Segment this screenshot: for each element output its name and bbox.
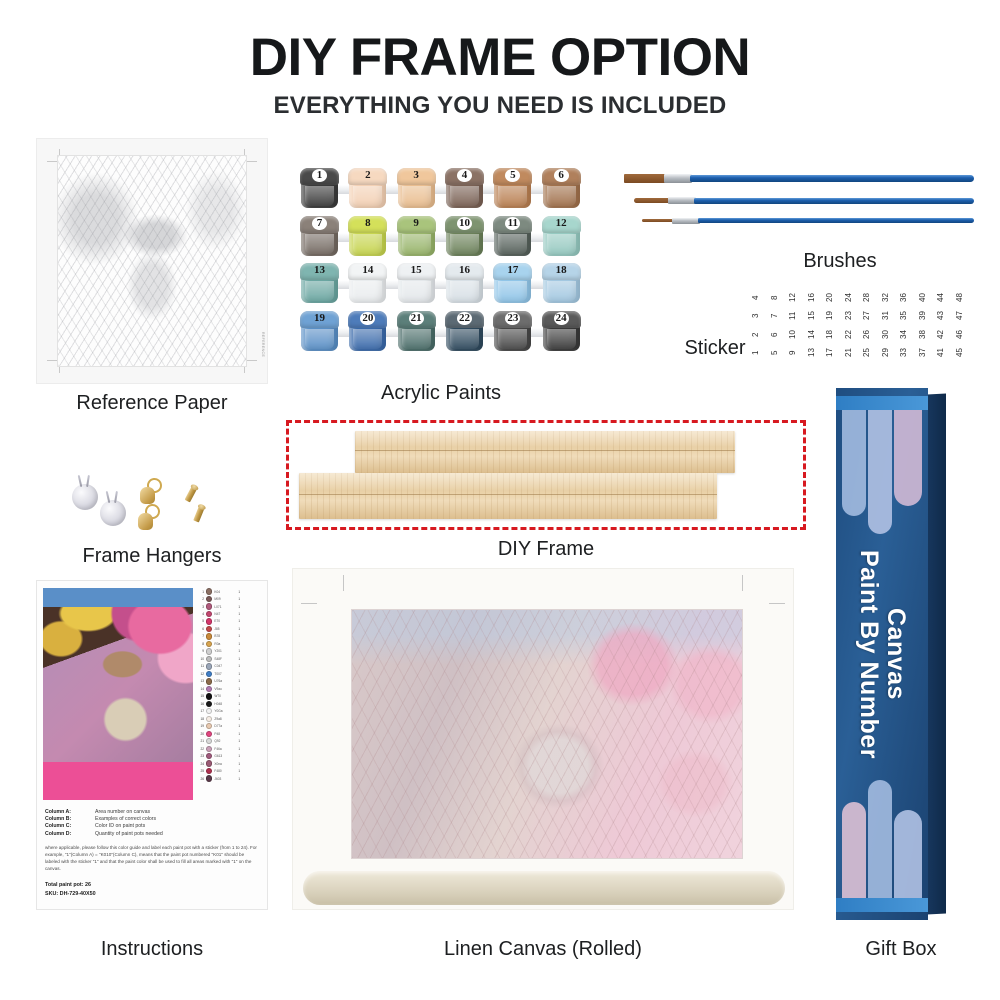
sticker-sheet-item: 4321876512111091615141320191817242322212…	[748, 290, 970, 360]
legend-color-swatch	[206, 626, 212, 632]
paint-pot-number: 8	[348, 217, 387, 229]
legend-quantity: 1	[238, 762, 245, 766]
legend-row: 18Z9a81	[195, 715, 261, 722]
legend-area-number: 20	[195, 732, 204, 736]
sticker-number: 16	[804, 290, 823, 305]
paint-pot-6: 6	[542, 168, 581, 212]
legend-quantity: 1	[238, 649, 245, 653]
legend-area-number: 1	[195, 590, 204, 594]
screw-icon	[185, 486, 198, 503]
d-ring-plate	[138, 513, 153, 530]
brush-ferrule	[668, 197, 696, 204]
legend-quantity: 1	[238, 619, 245, 623]
legend-area-number: 2	[195, 597, 204, 601]
sticker-number: 18	[822, 327, 841, 342]
canvas-crop-mark	[343, 575, 344, 591]
brush-handle	[690, 175, 974, 182]
paint-pot-21: 21	[397, 311, 436, 355]
paint-pot-row: 131415161718	[296, 263, 586, 307]
legend-color-swatch	[206, 723, 212, 729]
legend-color-id: Y0Ga	[214, 709, 236, 713]
sticker-number: 33	[896, 345, 915, 360]
sticker-number: 34	[896, 327, 915, 342]
legend-area-number: 22	[195, 747, 204, 751]
paint-pot-2: 2	[348, 168, 387, 212]
legend-quantity: 1	[238, 612, 245, 616]
wood-stretcher-bar	[299, 473, 717, 519]
legend-quantity: 1	[238, 657, 245, 661]
sticker-number: 7	[767, 308, 786, 323]
legend-color-swatch	[206, 588, 212, 594]
infographic-page: DIY FRAME OPTION EVERYTHING YOU NEED IS …	[0, 0, 1000, 1000]
paint-pot-number: 5	[493, 169, 532, 181]
paint-pot-17: 17	[493, 263, 532, 307]
gift-box-face: CanvasPaint By Number	[836, 388, 928, 920]
legend-color-swatch	[206, 641, 212, 647]
legend-area-number: 25	[195, 769, 204, 773]
legend-quantity: 1	[238, 694, 245, 698]
caption-brushes: Brushes	[760, 250, 920, 273]
paint-pot-number: 14	[348, 264, 387, 276]
legend-area-number: 9	[195, 649, 204, 653]
canvas-crop-mark	[769, 603, 785, 604]
legend-color-swatch	[206, 633, 212, 639]
legend-quantity: 1	[238, 769, 245, 773]
paint-pot-number: 7	[300, 217, 339, 229]
legend-area-number: 19	[195, 724, 204, 728]
sticker-number: 25	[859, 345, 878, 360]
paint-pot-18: 18	[542, 263, 581, 307]
legend-area-number: 3	[195, 605, 204, 609]
paint-pot-19: 19	[300, 311, 339, 355]
legend-color-id: V9au	[214, 687, 236, 691]
legend-quantity: 1	[238, 777, 245, 781]
legend-row: 12T0071	[195, 670, 261, 677]
paint-pot-16: 16	[445, 263, 484, 307]
legend-quantity: 1	[238, 717, 245, 721]
sticker-column: 36353433	[896, 290, 915, 360]
legend-quantity: 1	[238, 664, 245, 668]
brush-handle	[694, 198, 974, 204]
instruction-column-key: Column D:	[45, 831, 89, 838]
legend-row: 9Y2011	[195, 648, 261, 655]
legend-row: 2M091	[195, 595, 261, 602]
legend-quantity: 1	[238, 709, 245, 713]
sticker-number: 19	[822, 308, 841, 323]
brushes-item	[624, 172, 974, 242]
legend-quantity: 1	[238, 605, 245, 609]
paint-pot-number: 11	[493, 217, 532, 229]
paint-pot-14: 14	[348, 263, 387, 307]
paint-pot-3: 3	[397, 168, 436, 212]
caption-diy-frame: DIY Frame	[286, 538, 806, 561]
paint-pot-number: 2	[348, 169, 387, 181]
paint-pot-24: 24	[542, 311, 581, 355]
legend-color-swatch	[206, 611, 212, 617]
sticker-number: 29	[878, 345, 897, 360]
legend-quantity: 1	[238, 672, 245, 676]
legend-area-number: 12	[195, 672, 204, 676]
legend-row: 11C0471	[195, 663, 261, 670]
gift-box-line2: Paint By Number	[855, 550, 883, 759]
brush-round-medium	[634, 194, 974, 207]
sticker-column: 32313029	[878, 290, 897, 360]
legend-area-number: 8	[195, 642, 204, 646]
paint-pot-row: 192021222324	[296, 311, 586, 355]
legend-color-swatch	[206, 708, 212, 714]
legend-color-swatch	[206, 603, 212, 609]
legend-area-number: 21	[195, 739, 204, 743]
instructions-preview-image	[43, 588, 193, 800]
sticker-number: 3	[748, 308, 767, 323]
paint-pot-number: 6	[542, 169, 581, 181]
sticker-number: 14	[804, 327, 823, 342]
legend-area-number: 6	[195, 627, 204, 631]
legend-area-number: 23	[195, 754, 204, 758]
legend-area-number: 10	[195, 657, 204, 661]
caption-instructions: Instructions	[36, 938, 268, 961]
wood-stretcher-bar	[355, 431, 735, 473]
legend-color-swatch	[206, 768, 212, 774]
legend-quantity: 1	[238, 732, 245, 736]
paint-pot-rail	[302, 328, 580, 337]
gift-box-line1: Canvas	[882, 608, 910, 700]
legend-area-number: 24	[195, 762, 204, 766]
sticker-number: 17	[822, 345, 841, 360]
legend-color-swatch	[206, 753, 212, 759]
paint-pot-number: 1	[300, 169, 339, 181]
sticker-number: 35	[896, 308, 915, 323]
legend-color-swatch	[206, 738, 212, 744]
paint-pot-number: 20	[348, 312, 387, 324]
brush-tip	[634, 198, 670, 203]
legend-quantity: 1	[238, 642, 245, 646]
paint-pot-number: 9	[397, 217, 436, 229]
brush-tip	[642, 219, 674, 222]
legend-color-id: K04	[214, 590, 236, 594]
brush-round-fine	[642, 214, 974, 227]
sticker-number: 43	[933, 308, 952, 323]
brush-tip	[624, 174, 666, 183]
paint-pot-9: 9	[397, 216, 436, 260]
legend-color-id: X0na	[214, 762, 236, 766]
sticker-number: 8	[767, 290, 786, 305]
paint-pot-15: 15	[397, 263, 436, 307]
paint-pot-number: 16	[445, 264, 484, 276]
caption-frame-hangers: Frame Hangers	[36, 545, 268, 568]
sticker-number: 4	[748, 290, 767, 305]
legend-row: 6J851	[195, 625, 261, 632]
legend-quantity: 1	[238, 679, 245, 683]
legend-row: 19D77a1	[195, 723, 261, 730]
legend-color-id: U76a	[214, 679, 236, 683]
instruction-column-key: Column C:	[45, 823, 89, 830]
legend-color-swatch	[206, 648, 212, 654]
brush-ferrule	[672, 218, 700, 224]
legend-area-number: 7	[195, 634, 204, 638]
sticker-number: 44	[933, 290, 952, 305]
legend-quantity: 1	[238, 687, 245, 691]
sticker-column: 28272625	[859, 290, 878, 360]
paint-pot-11: 11	[493, 216, 532, 260]
reference-line-art	[57, 155, 247, 367]
legend-row: 5E701	[195, 618, 261, 625]
screw-icon	[193, 505, 205, 522]
gift-box-side	[927, 394, 946, 915]
frame-hangers-item	[66, 470, 236, 538]
plastic-hook-icon	[72, 484, 98, 510]
instructions-column-key: Column A:Area number on canvasColumn B:E…	[45, 809, 259, 838]
paint-pot-number: 22	[445, 312, 484, 324]
legend-area-number: 16	[195, 702, 204, 706]
sticker-column: 24232221	[841, 290, 860, 360]
paint-pot-13: 13	[300, 263, 339, 307]
paint-pot-number: 21	[397, 312, 436, 324]
legend-color-id: C047	[214, 664, 236, 668]
instruction-column-value: Examples of correct colors	[95, 816, 156, 823]
legend-color-id: D77a	[214, 724, 236, 728]
instructions-color-legend: 1K0412M0913L07114N4715E7016J8517B7818R0a…	[195, 588, 261, 800]
sticker-number: 42	[933, 327, 952, 342]
legend-area-number: 26	[195, 777, 204, 781]
sticker-number: 21	[841, 345, 860, 360]
legend-color-swatch	[206, 686, 212, 692]
legend-row: 22F46a1	[195, 745, 261, 752]
sticker-column: 16151413	[804, 290, 823, 360]
legend-row: 4N471	[195, 610, 261, 617]
legend-row: 8R0a1	[195, 640, 261, 647]
legend-row: 25F4801	[195, 768, 261, 775]
paint-pot-number: 12	[542, 217, 581, 229]
legend-area-number: 14	[195, 687, 204, 691]
canvas-crop-mark	[742, 575, 743, 591]
paint-pot-row: 123456	[296, 168, 586, 212]
diy-frame-item	[286, 420, 806, 530]
legend-area-number: 5	[195, 619, 204, 623]
paint-pot-number: 4	[445, 169, 484, 181]
sticker-number: 38	[915, 327, 934, 342]
caption-linen-canvas: Linen Canvas (Rolled)	[292, 938, 794, 961]
legend-color-swatch	[206, 775, 212, 781]
legend-color-id: P48	[214, 732, 236, 736]
instruction-column-value: Area number on canvas	[95, 809, 150, 816]
sticker-number: 11	[785, 308, 804, 323]
paint-pot-number: 18	[542, 264, 581, 276]
paint-pot-number: 24	[542, 312, 581, 324]
caption-gift-box: Gift Box	[836, 938, 966, 961]
legend-color-swatch	[206, 596, 212, 602]
instructions-note: where applicable, please follow this col…	[45, 844, 259, 873]
legend-row: 23G6131	[195, 753, 261, 760]
legend-row: 3L0711	[195, 603, 261, 610]
instruction-column-line: Column B:Examples of correct colors	[45, 816, 259, 823]
legend-row: 14V9au1	[195, 685, 261, 692]
legend-color-id: S48F	[214, 657, 236, 661]
sticker-number: 24	[841, 290, 860, 305]
sticker-number: 39	[915, 308, 934, 323]
paint-pot-12: 12	[542, 216, 581, 260]
paint-pot-number: 17	[493, 264, 532, 276]
paint-pot-4: 4	[445, 168, 484, 212]
legend-row: 17Y0Ga1	[195, 708, 261, 715]
instruction-column-key: Column A:	[45, 809, 89, 816]
legend-color-swatch	[206, 746, 212, 752]
legend-color-id: H048	[214, 702, 236, 706]
legend-quantity: 1	[238, 739, 245, 743]
paint-pot-row: 789101112	[296, 216, 586, 260]
brush-handle	[698, 218, 974, 223]
paint-pot-number: 10	[445, 217, 484, 229]
paint-pot-1: 1	[300, 168, 339, 212]
legend-row: 16H0481	[195, 700, 261, 707]
legend-area-number: 15	[195, 694, 204, 698]
paint-pot-rail	[302, 233, 580, 242]
legend-color-swatch	[206, 618, 212, 624]
legend-color-id: Z9a8	[214, 717, 236, 721]
legend-color-id: Y201	[214, 649, 236, 653]
sticker-column: 1211109	[785, 290, 804, 360]
legend-quantity: 1	[238, 754, 245, 758]
sticker-number: 31	[878, 308, 897, 323]
sticker-number: 10	[785, 327, 804, 342]
legend-color-swatch	[206, 701, 212, 707]
legend-row: 1K041	[195, 588, 261, 595]
d-ring-plate	[140, 487, 155, 504]
paint-pot-10: 10	[445, 216, 484, 260]
legend-row: 7B781	[195, 633, 261, 640]
instruction-column-line: Column C:Color ID on paint pots	[45, 823, 259, 830]
acrylic-paints-item: 123456789101112131415161718192021222324	[296, 168, 586, 358]
instruction-column-line: Column D:Quantity of paint pots needed	[45, 831, 259, 838]
instruction-column-value: Quantity of paint pots needed	[95, 831, 163, 838]
paint-pot-8: 8	[348, 216, 387, 260]
legend-quantity: 1	[238, 724, 245, 728]
legend-color-swatch	[206, 760, 212, 766]
sticker-number: 37	[915, 345, 934, 360]
legend-color-id: T007	[214, 672, 236, 676]
sticker-number: 12	[785, 290, 804, 305]
legend-color-swatch	[206, 656, 212, 662]
legend-quantity: 1	[238, 702, 245, 706]
paint-pot-23: 23	[493, 311, 532, 355]
sticker-number: 15	[804, 308, 823, 323]
legend-area-number: 17	[195, 709, 204, 713]
caption-acrylic-paints: Acrylic Paints	[296, 382, 586, 405]
legend-color-id: R0a	[214, 642, 236, 646]
paint-pot-5: 5	[493, 168, 532, 212]
legend-color-id: L071	[214, 605, 236, 609]
legend-row: 24X0na1	[195, 760, 261, 767]
sticker-number: 45	[952, 345, 971, 360]
paint-pot-20: 20	[348, 311, 387, 355]
legend-quantity: 1	[238, 747, 245, 751]
instructions-totals: Total paint pot: 26 SKU: DH-729-40X50	[45, 881, 259, 899]
sticker-number: 9	[785, 345, 804, 360]
sticker-number: 46	[952, 327, 971, 342]
legend-row: 15W701	[195, 693, 261, 700]
gift-box-item: CanvasPaint By Number	[836, 388, 946, 920]
legend-color-id: F480	[214, 769, 236, 773]
legend-color-swatch	[206, 716, 212, 722]
sticker-number: 30	[878, 327, 897, 342]
sku-label: SKU: DH-729-40X50	[45, 890, 259, 899]
paint-pot-number: 3	[397, 169, 436, 181]
total-paint-pot: Total paint pot: 26	[45, 881, 259, 890]
canvas-printed-design	[351, 609, 743, 859]
instructions-item: 1K0412M0913L07114N4715E7016J8517B7818R0a…	[36, 580, 268, 910]
paint-pot-number: 13	[300, 264, 339, 276]
sticker-number: 48	[952, 290, 971, 305]
legend-color-id: E70	[214, 619, 236, 623]
sticker-number: 27	[859, 308, 878, 323]
caption-sticker: Sticker	[660, 337, 770, 360]
gift-box-title: CanvasPaint By Number	[836, 388, 928, 920]
paint-pot-22: 22	[445, 311, 484, 355]
legend-area-number: 4	[195, 612, 204, 616]
legend-row: 10S48F1	[195, 655, 261, 662]
sticker-number: 22	[841, 327, 860, 342]
legend-color-id: W70	[214, 694, 236, 698]
d-ring-hanger-icon	[138, 504, 158, 530]
legend-area-number: 11	[195, 664, 204, 668]
paint-pot-rail	[302, 185, 580, 194]
legend-color-id: G613	[214, 754, 236, 758]
legend-color-id: F46a	[214, 747, 236, 751]
sticker-number: 28	[859, 290, 878, 305]
instruction-column-value: Color ID on paint pots	[95, 823, 145, 830]
sticker-number: 23	[841, 308, 860, 323]
sticker-number: 41	[933, 345, 952, 360]
legend-color-swatch	[206, 678, 212, 684]
legend-color-swatch	[206, 663, 212, 669]
paint-pot-number: 19	[300, 312, 339, 324]
legend-row: 13U76a1	[195, 678, 261, 685]
instruction-column-key: Column B:	[45, 816, 89, 823]
sticker-column: 20191817	[822, 290, 841, 360]
paint-pot-number: 23	[493, 312, 532, 324]
canvas-crop-mark	[301, 603, 317, 604]
legend-quantity: 1	[238, 597, 245, 601]
page-subtitle: EVERYTHING YOU NEED IS INCLUDED	[0, 92, 1000, 120]
legend-quantity: 1	[238, 627, 245, 631]
legend-color-swatch	[206, 731, 212, 737]
paint-pot-7: 7	[300, 216, 339, 260]
reference-side-code: REFERENCE	[261, 332, 265, 357]
sticker-number: 26	[859, 327, 878, 342]
legend-color-id: M09	[214, 597, 236, 601]
paint-pot-number: 15	[397, 264, 436, 276]
legend-row: 26J6031	[195, 775, 261, 782]
brush-flat	[624, 172, 974, 185]
sticker-number: 20	[822, 290, 841, 305]
legend-row: 21Q921	[195, 738, 261, 745]
linen-canvas-item	[292, 568, 794, 910]
sticker-number: 47	[952, 308, 971, 323]
instructions-text-block: Column A:Area number on canvasColumn B:E…	[45, 809, 259, 899]
legend-quantity: 1	[238, 634, 245, 638]
plastic-hook-icon	[100, 500, 126, 526]
instruction-column-line: Column A:Area number on canvas	[45, 809, 259, 816]
sticker-column: 40393837	[915, 290, 934, 360]
sticker-number: 13	[804, 345, 823, 360]
sticker-number: 32	[878, 290, 897, 305]
reference-paper-item: REFERENCE	[36, 138, 268, 384]
legend-area-number: 13	[195, 679, 204, 683]
legend-color-id: B78	[214, 634, 236, 638]
brush-ferrule	[664, 174, 692, 183]
legend-quantity: 1	[238, 590, 245, 594]
legend-row: 20P481	[195, 730, 261, 737]
